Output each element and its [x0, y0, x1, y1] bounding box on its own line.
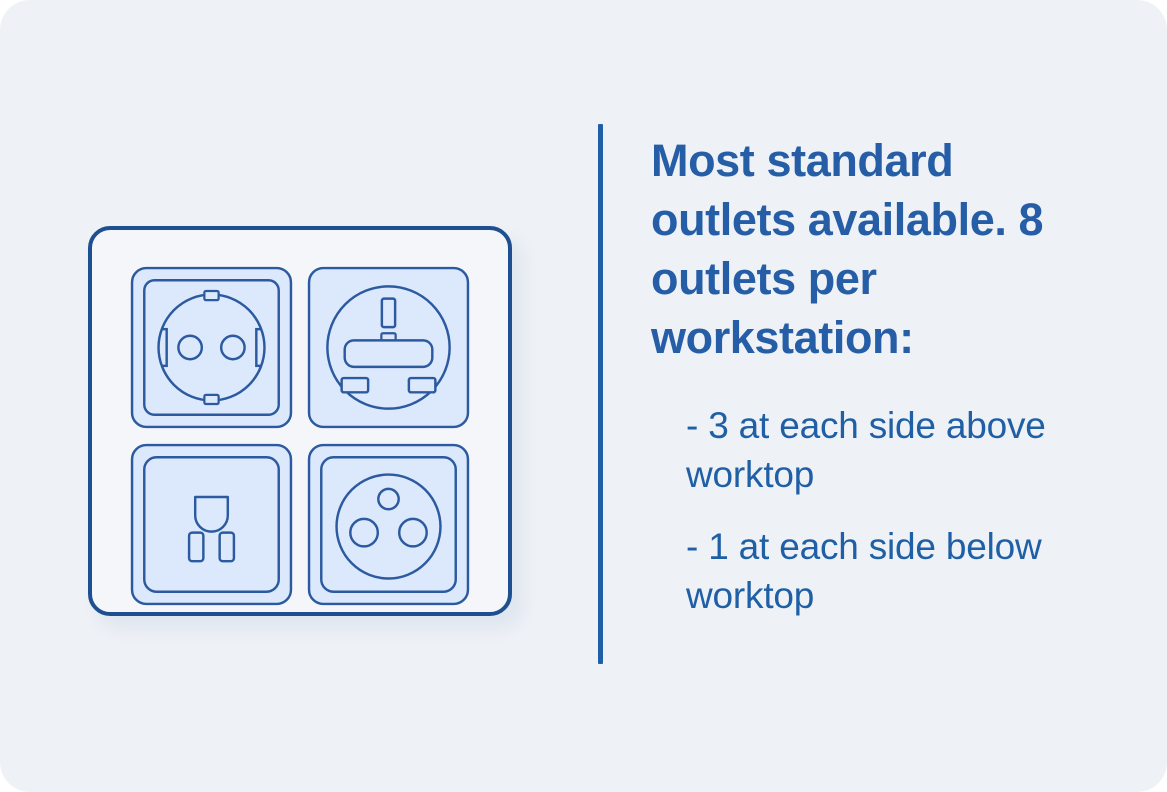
socket-french [307, 443, 470, 606]
socket-panel-illustration [88, 226, 512, 616]
us-socket-icon [130, 443, 293, 606]
list-item: - 3 at each side above worktop [686, 402, 1056, 500]
text-column: Most standard outlets available. 8 outle… [598, 124, 1098, 664]
socket-us [130, 443, 293, 606]
text-body: Most standard outlets available. 8 outle… [651, 124, 1071, 621]
heading: Most standard outlets available. 8 outle… [651, 132, 1071, 368]
socket-uk [307, 266, 470, 429]
bullet-list: - 3 at each side above worktop - 1 at ea… [651, 402, 1071, 621]
schuko-icon [130, 266, 293, 429]
french-socket-icon [307, 443, 470, 606]
socket-schuko [130, 266, 293, 429]
list-item: - 1 at each side below worktop [686, 523, 1056, 621]
socket-panel-frame [88, 226, 512, 616]
socket-grid [130, 266, 470, 576]
accent-bar [598, 124, 603, 664]
uk-socket-icon [307, 266, 470, 429]
info-card: Most standard outlets available. 8 outle… [0, 0, 1167, 792]
